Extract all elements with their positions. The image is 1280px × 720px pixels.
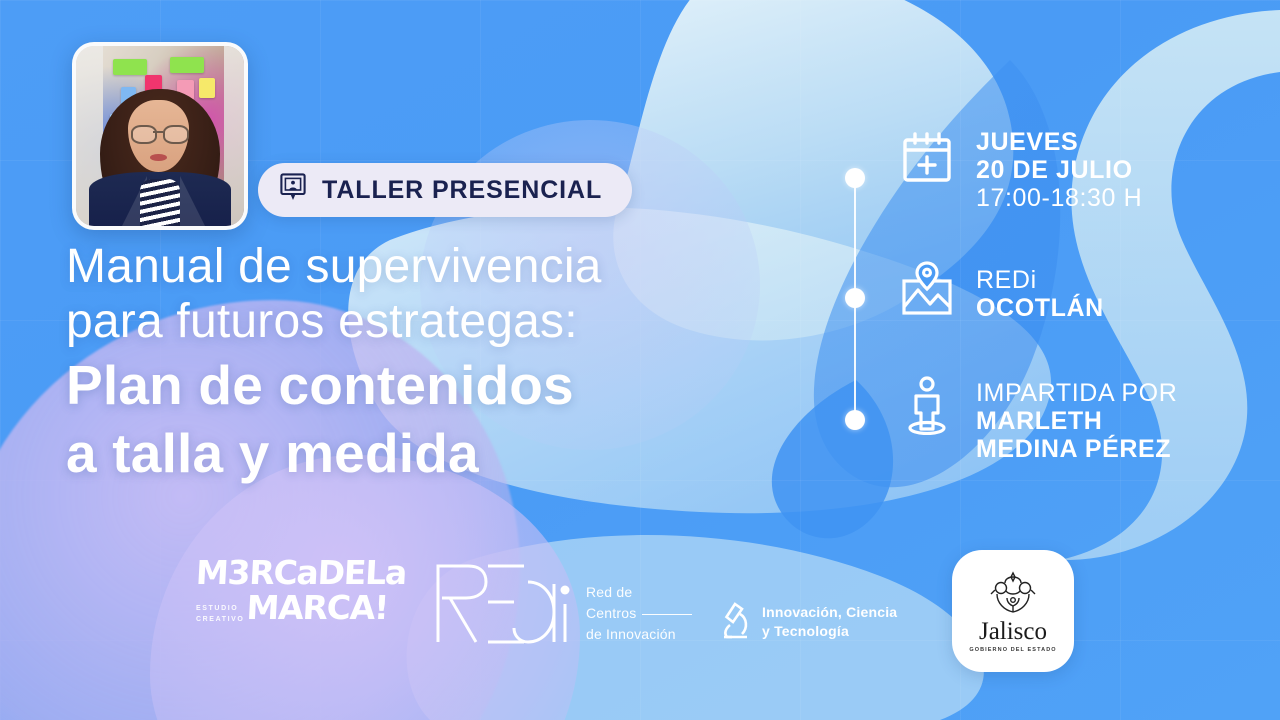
redi-tagline-line-2: Centros [586,605,636,621]
merca-subtitle: ESTUDIO CREATIVO [196,604,282,625]
calendar-plus-icon [900,128,954,188]
microscope-icon [718,600,752,645]
title-line-2: para futuros estrategas: [66,295,786,350]
presentation-board-icon [280,173,306,208]
timeline-dot-place [845,288,865,308]
logo-jalisco: Jalisco GOBIERNO DEL ESTADO [952,550,1074,672]
speaker-photo [72,42,248,230]
info-block-speaker: IMPARTIDA POR MARLETH MEDINA PÉREZ [900,375,1177,463]
place-city: OCOTLÁN [976,294,1104,322]
speaker-first: MARLETH [976,407,1177,435]
logo-merca-de-la-marca: M3RCaDELa MARCA! ESTUDIO CREATIVO [196,556,388,648]
page-title: Manual de supervivencia para futuros est… [66,240,786,485]
timeline-dot-speaker [845,410,865,430]
logo-redi: Red de Centros de Innovación [428,548,698,658]
jalisco-name: Jalisco [979,619,1047,644]
presenter-person-icon [900,375,954,435]
redi-mark-icon [428,554,578,650]
info-text-place: REDi OCOTLÁN [976,258,1104,322]
ict-label: Innovación, Ciencia y Tecnología [762,603,897,641]
place-name: REDi [976,266,1104,294]
date-day: JUEVES [976,128,1142,156]
info-block-date: JUEVES 20 DE JULIO 17:00-18:30 H [900,128,1142,212]
ict-line-1: Innovación, Ciencia [762,603,897,622]
event-poster: TALLER PRESENCIAL Manual de supervivenci… [0,0,1280,720]
redi-tagline: Red de Centros de Innovación [586,582,692,645]
date-time: 17:00-18:30 H [976,184,1142,212]
date-full: 20 DE JULIO [976,156,1142,184]
jalisco-subtitle: GOBIERNO DEL ESTADO [969,647,1056,653]
title-line-3: Plan de contenidos [66,355,786,417]
redi-tagline-line-3: de Innovación [586,624,692,645]
info-text-speaker: IMPARTIDA POR MARLETH MEDINA PÉREZ [976,375,1177,463]
merca-line-1: M3RCaDELa [195,556,389,589]
map-pin-icon [900,258,954,318]
title-line-1: Manual de supervivencia [66,240,786,295]
info-timeline [845,168,865,430]
ict-line-2: y Tecnología [762,622,897,641]
redi-rule [642,614,692,616]
timeline-dot-date [845,168,865,188]
redi-tagline-line-1: Red de [586,582,692,603]
title-line-4: a talla y medida [66,423,786,485]
logo-innovacion-ciencia-tecnologia: Innovación, Ciencia y Tecnología [718,594,928,650]
info-text-date: JUEVES 20 DE JULIO 17:00-18:30 H [976,128,1142,212]
speaker-prefix: IMPARTIDA POR [976,379,1177,407]
workshop-type-badge: TALLER PRESENCIAL [258,163,632,217]
speaker-last: MEDINA PÉREZ [976,435,1177,463]
logo-row: M3RCaDELa MARCA! ESTUDIO CREATIVO Red de… [0,548,1280,678]
info-block-place: REDi OCOTLÁN [900,258,1104,322]
coat-of-arms-icon [985,570,1041,616]
badge-label: TALLER PRESENCIAL [322,176,602,205]
